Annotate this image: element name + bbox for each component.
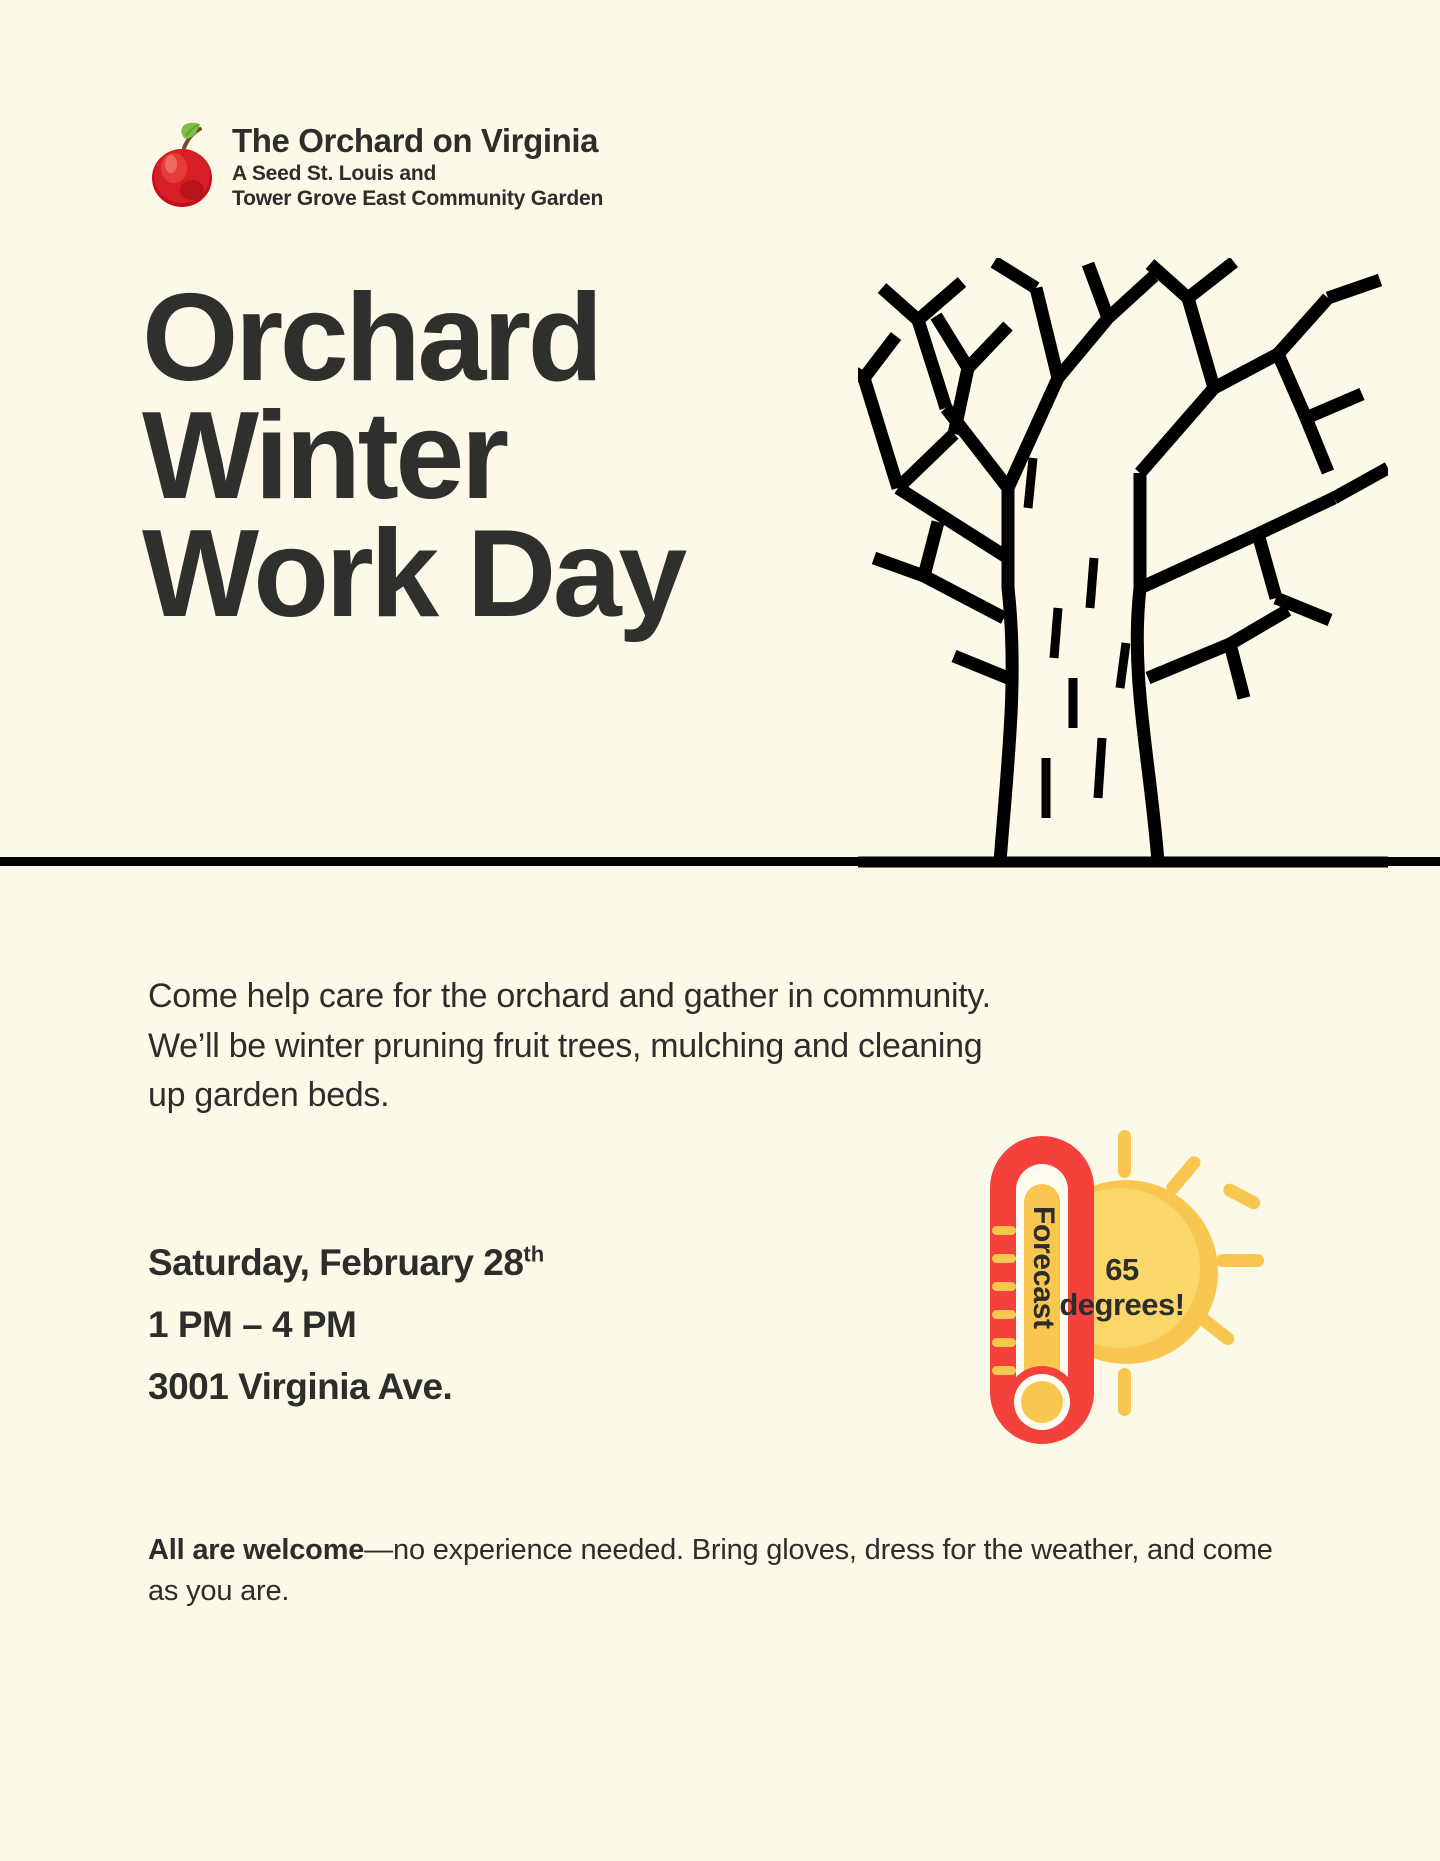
organization-logo-block: The Orchard on Virginia A Seed St. Louis… bbox=[148, 118, 603, 212]
welcome-note-bold: All are welcome bbox=[148, 1534, 364, 1566]
event-date-text: Saturday, February 28 bbox=[148, 1242, 523, 1283]
section-divider bbox=[0, 857, 1440, 866]
organization-text: The Orchard on Virginia A Seed St. Louis… bbox=[232, 118, 603, 212]
forecast-label: Forecast bbox=[1026, 1206, 1060, 1329]
organization-subtitle-line-1: A Seed St. Louis and bbox=[232, 161, 603, 187]
bare-winter-tree-icon bbox=[858, 258, 1388, 868]
intro-paragraph: Come help care for the orchard and gathe… bbox=[148, 972, 1028, 1121]
red-apple-icon bbox=[148, 118, 216, 210]
event-details: Saturday, February 28th 1 PM – 4 PM 3001… bbox=[148, 1232, 544, 1418]
event-date-ordinal: th bbox=[523, 1242, 544, 1267]
organization-subtitle: A Seed St. Louis and Tower Grove East Co… bbox=[232, 161, 603, 212]
organization-name: The Orchard on Virginia bbox=[232, 124, 603, 159]
poster-canvas: The Orchard on Virginia A Seed St. Louis… bbox=[0, 0, 1440, 1861]
event-date: Saturday, February 28th bbox=[148, 1232, 544, 1294]
organization-subtitle-line-2: Tower Grove East Community Garden bbox=[232, 186, 603, 212]
event-address: 3001 Virginia Ave. bbox=[148, 1356, 544, 1418]
event-time: 1 PM – 4 PM bbox=[148, 1294, 544, 1356]
page-title-line-3: Work Day bbox=[142, 516, 684, 634]
page-title-line-1: Orchard bbox=[142, 280, 684, 398]
welcome-note: All are welcome—no experience needed. Br… bbox=[148, 1530, 1298, 1612]
page-title: Orchard Winter Work Day bbox=[142, 280, 684, 633]
page-title-line-2: Winter bbox=[142, 398, 684, 516]
